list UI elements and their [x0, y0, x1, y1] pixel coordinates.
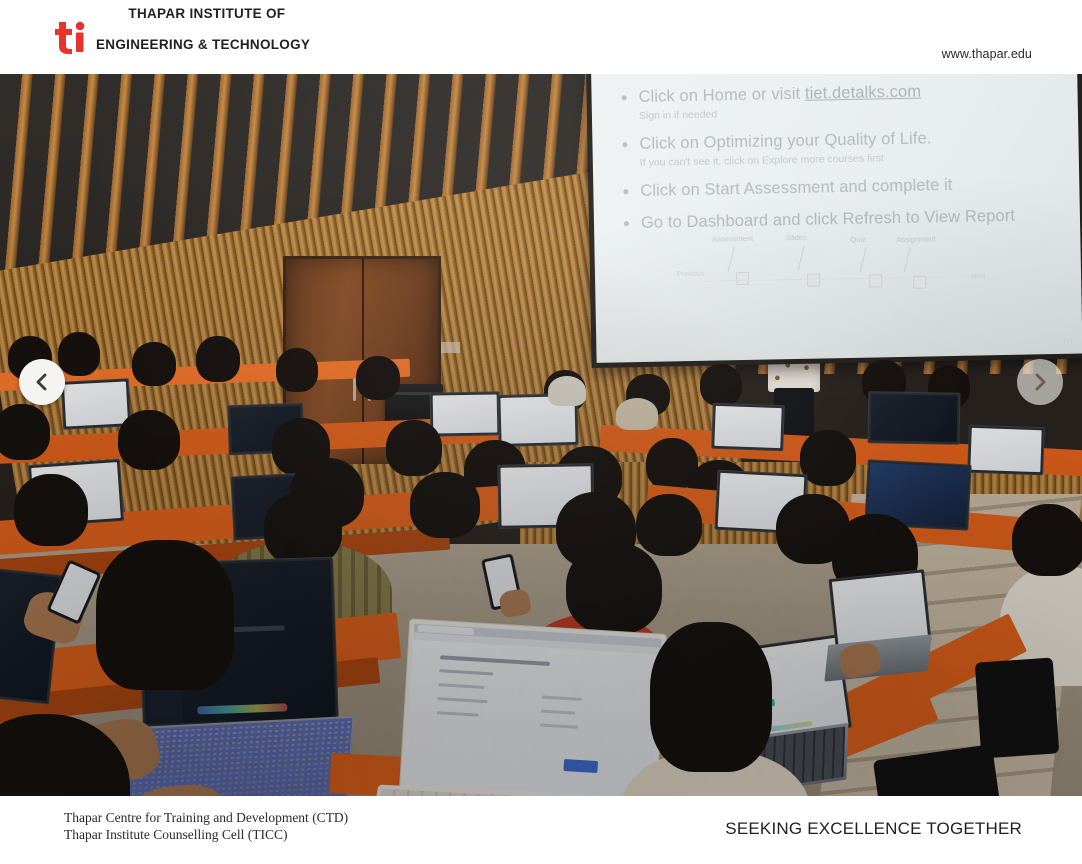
form-heading [440, 655, 550, 666]
diagram-next-button: Next [971, 273, 986, 280]
student-head [58, 332, 100, 376]
bullet-dot-icon [623, 189, 628, 194]
student-cap [616, 398, 658, 430]
projected-image: Click on Home or visit tiet.detalks.com … [591, 74, 1082, 363]
diagram-callout-arrow [798, 245, 805, 270]
tagline: SEEKING EXCELLENCE TOGETHER [725, 819, 1022, 839]
student-head [800, 430, 856, 486]
diagram-callout-arrow [904, 247, 911, 272]
student-head [636, 494, 702, 556]
diagram-label-quiz: Quiz [850, 235, 866, 244]
student-head [410, 472, 480, 538]
organiser-line1: Thapar Centre for Training and Developme… [64, 809, 348, 826]
form-submit-button [563, 759, 598, 773]
student-head [196, 336, 240, 382]
student-backpack [975, 657, 1060, 758]
student-head [276, 348, 318, 392]
bullet-dot-icon [624, 221, 629, 226]
student-head-foreground [96, 540, 234, 690]
ti-monogram-icon [55, 20, 85, 54]
student-head [386, 420, 442, 476]
slide-link: tiet.detalks.com [805, 83, 922, 103]
student-head [700, 364, 742, 406]
website-url[interactable]: www.thapar.edu [942, 47, 1032, 61]
student-head [132, 342, 176, 386]
form-label [437, 711, 479, 717]
laptop-lid [430, 391, 501, 436]
form-label [540, 723, 578, 728]
laptop-screen [433, 394, 498, 433]
laptop-lid [711, 403, 785, 451]
diagram-chip-assessment [736, 272, 749, 285]
student-head [118, 410, 180, 470]
diagram-label-assessment: Assessment [712, 234, 753, 244]
student-head [566, 542, 662, 634]
form-label [439, 669, 493, 675]
student-head [0, 404, 50, 460]
taskbar [197, 703, 287, 714]
form-label [438, 683, 484, 689]
student-cap [548, 376, 586, 406]
student-head [14, 474, 88, 546]
form-label [437, 697, 487, 703]
form-label [542, 696, 582, 701]
institute-name-line1: THAPAR INSTITUTE OF [128, 6, 285, 21]
laptop-lid [399, 618, 667, 796]
slide-bullet-text: Click on Optimizing your Quality of Life… [639, 127, 931, 155]
student-head [264, 492, 342, 566]
page-header: THAPAR INSTITUTE OF ENGINEERING & TECHNO… [0, 0, 1082, 74]
brand-lockup: THAPAR INSTITUTE OF ENGINEERING & TECHNO… [55, 0, 310, 84]
laptop-lid [61, 378, 131, 429]
bullet-dot-icon [622, 95, 627, 100]
laptop-screen [404, 624, 661, 796]
slide-bullet-text: Click on Start Assessment and complete i… [640, 174, 953, 202]
laptop-lid [967, 425, 1045, 476]
laptop-screen [871, 394, 958, 441]
slide-bullet: Click on Start Assessment and complete i… [623, 172, 1063, 202]
student-head-foreground [650, 622, 772, 772]
diagram-label-slides: Slides [786, 233, 807, 242]
diagram-chip-quiz [869, 274, 882, 287]
slide-bullet-text: Click on Home or visit tiet.detalks.com [638, 81, 921, 108]
carousel-next-button[interactable] [1017, 359, 1063, 405]
student-head [1012, 504, 1082, 576]
lecture-hall-scene: Click on Home or visit tiet.detalks.com … [0, 74, 1082, 796]
slide-page: THAPAR INSTITUTE OF ENGINEERING & TECHNO… [0, 0, 1082, 864]
laptop-lid [868, 391, 961, 445]
bullet-dot-icon [622, 142, 627, 147]
laptop-screen [714, 406, 781, 448]
organiser-credits: Thapar Centre for Training and Developme… [64, 809, 348, 843]
form-label [541, 709, 575, 714]
diagram-prev-button: Previous [677, 271, 704, 279]
student-head [356, 356, 400, 400]
organiser-line2: Thapar Institute Counselling Cell (TICC) [64, 826, 348, 843]
laptop-screen [64, 381, 128, 426]
slide-number: 10 [1062, 338, 1072, 348]
laptop-screen [970, 428, 1041, 472]
presentation-slide: Click on Home or visit tiet.detalks.com … [591, 74, 1082, 363]
diagram-callout-arrow [860, 247, 867, 272]
chevron-right-icon [1030, 372, 1050, 392]
carousel-photo: Click on Home or visit tiet.detalks.com … [0, 74, 1082, 796]
institute-name-line2: ENGINEERING & TECHNOLOGY [96, 37, 310, 53]
diagram-chip-slides [807, 274, 820, 287]
page-footer: Thapar Centre for Training and Developme… [0, 796, 1082, 864]
institute-name: THAPAR INSTITUTE OF ENGINEERING & TECHNO… [96, 0, 310, 84]
projector-screen: Click on Home or visit tiet.detalks.com … [586, 74, 1082, 368]
diagram-label-assignment: Assignment [896, 234, 935, 244]
slide-ui-diagram: Assessment Slides Quiz Assignment [702, 228, 1033, 298]
carousel-prev-button[interactable] [19, 359, 65, 405]
diagram-callout-arrow [728, 247, 735, 272]
chevron-left-icon [32, 372, 52, 392]
